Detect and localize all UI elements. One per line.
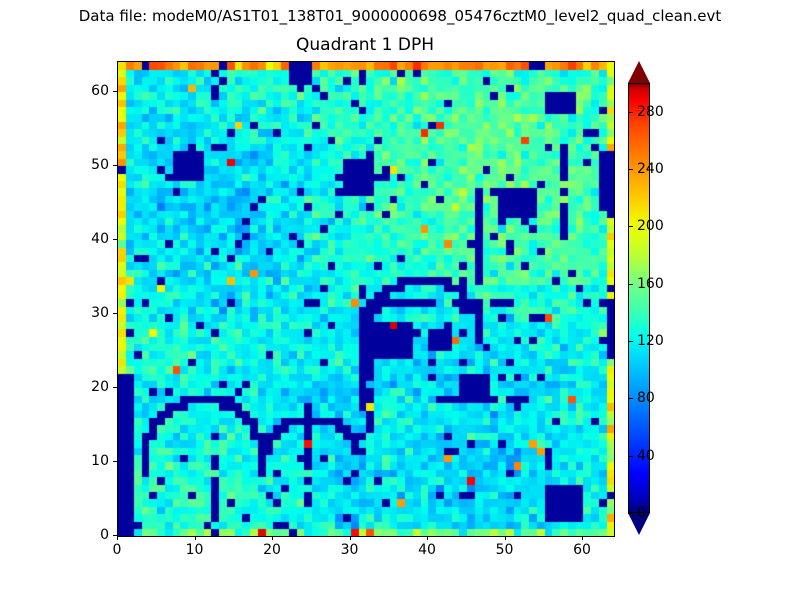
colorbar-tick-label: 280	[637, 103, 664, 121]
x-tick-mark	[505, 536, 506, 540]
colorbar-tick-label: 40	[637, 447, 655, 465]
y-tick-mark	[113, 239, 117, 240]
colorbar-tick-label: 200	[637, 217, 664, 235]
y-tick-label: 0	[73, 526, 109, 544]
page-title: Quadrant 1 DPH	[117, 34, 613, 56]
x-tick-label: 60	[562, 541, 602, 559]
colorbar-tick-mark	[628, 169, 633, 170]
y-tick-mark	[113, 387, 117, 388]
detector-plane-heatmap	[118, 62, 614, 536]
colorbar-tick-mark	[628, 226, 633, 227]
figure-canvas: Data file: modeM0/AS1T01_138T01_90000006…	[0, 0, 800, 600]
y-tick-mark	[113, 165, 117, 166]
x-tick-mark	[427, 536, 428, 540]
heatmap-axes	[117, 61, 615, 537]
colorbar-tick-mark	[628, 456, 633, 457]
x-tick-mark	[272, 536, 273, 540]
colorbar-tick-mark	[628, 398, 633, 399]
x-tick-mark	[117, 536, 118, 540]
y-tick-label: 30	[73, 304, 109, 322]
colorbar-tick-label: 160	[637, 275, 664, 293]
x-tick-mark	[350, 536, 351, 540]
y-tick-mark	[113, 461, 117, 462]
colorbar-over-arrow-icon	[628, 61, 650, 83]
colorbar-tick-mark	[628, 284, 633, 285]
colorbar-tick-label: 120	[637, 332, 664, 350]
y-tick-mark	[113, 535, 117, 536]
data-file-suptitle: Data file: modeM0/AS1T01_138T01_90000006…	[0, 6, 800, 26]
x-tick-label: 40	[407, 541, 447, 559]
colorbar-tick-mark	[628, 112, 633, 113]
x-tick-label: 30	[330, 541, 370, 559]
colorbar-tick-mark	[628, 513, 633, 514]
y-tick-label: 50	[73, 156, 109, 174]
y-tick-label: 40	[73, 230, 109, 248]
y-tick-label: 60	[73, 82, 109, 100]
x-tick-mark	[195, 536, 196, 540]
colorbar-tick-label: 240	[637, 160, 664, 178]
y-tick-label: 20	[73, 378, 109, 396]
colorbar-tick-label: 80	[637, 389, 655, 407]
y-tick-label: 10	[73, 452, 109, 470]
x-tick-label: 50	[485, 541, 525, 559]
y-tick-mark	[113, 91, 117, 92]
x-tick-label: 10	[175, 541, 215, 559]
x-tick-label: 20	[252, 541, 292, 559]
colorbar-tick-mark	[628, 341, 633, 342]
x-tick-mark	[582, 536, 583, 540]
y-tick-mark	[113, 313, 117, 314]
colorbar-tick-label: 0	[637, 504, 646, 522]
